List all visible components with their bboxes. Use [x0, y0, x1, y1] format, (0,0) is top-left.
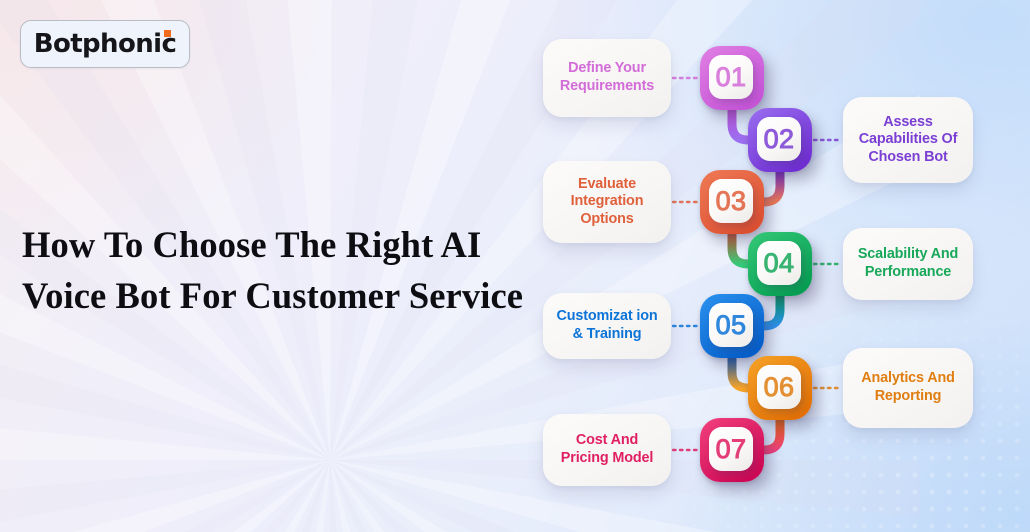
- step-number-badge[interactable]: 01: [700, 46, 764, 110]
- step-label-text: Scalability And Performance: [853, 246, 963, 281]
- step-number-text: 01: [716, 62, 747, 93]
- step-number-badge[interactable]: 07: [700, 418, 764, 482]
- step-label-card[interactable]: Cost And Pricing Model: [543, 414, 671, 486]
- step-label-text: Evaluate Integration Options: [553, 176, 661, 229]
- step-number-text: 06: [764, 372, 795, 403]
- step-label-text: Assess Capabilities Of Chosen Bot: [853, 114, 963, 167]
- step-number-plate: 01: [709, 55, 753, 99]
- step-number-text: 05: [716, 310, 747, 341]
- step-label-card[interactable]: Assess Capabilities Of Chosen Bot: [843, 97, 973, 183]
- step-label-card[interactable]: Scalability And Performance: [843, 228, 973, 300]
- step-number-badge[interactable]: 03: [700, 170, 764, 234]
- step-label-text: Customizat ion & Training: [553, 308, 661, 343]
- step-label-card[interactable]: Evaluate Integration Options: [543, 161, 671, 243]
- step-number-plate: 04: [757, 241, 801, 285]
- step-number-text: 04: [764, 248, 795, 279]
- step-number-text: 02: [764, 124, 795, 155]
- step-number-badge[interactable]: 04: [748, 232, 812, 296]
- step-number-plate: 02: [757, 117, 801, 161]
- step-label-card[interactable]: Customizat ion & Training: [543, 293, 671, 359]
- step-number-plate: 07: [709, 427, 753, 471]
- step-number-badge[interactable]: 05: [700, 294, 764, 358]
- step-number-plate: 05: [709, 303, 753, 347]
- infographic-canvas: Botphonic How To Choose The Right AI Voi…: [0, 0, 1030, 532]
- steps-flow-diagram: Define Your Requirements01Assess Capabil…: [0, 0, 1030, 532]
- step-number-plate: 03: [709, 179, 753, 223]
- step-number-badge[interactable]: 02: [748, 108, 812, 172]
- step-label-card[interactable]: Define Your Requirements: [543, 39, 671, 117]
- step-label-text: Cost And Pricing Model: [553, 432, 661, 467]
- step-label-text: Analytics And Reporting: [853, 370, 963, 405]
- step-number-text: 03: [716, 186, 747, 217]
- step-number-plate: 06: [757, 365, 801, 409]
- step-number-badge[interactable]: 06: [748, 356, 812, 420]
- step-label-text: Define Your Requirements: [553, 60, 661, 95]
- step-label-card[interactable]: Analytics And Reporting: [843, 348, 973, 428]
- step-number-text: 07: [716, 434, 747, 465]
